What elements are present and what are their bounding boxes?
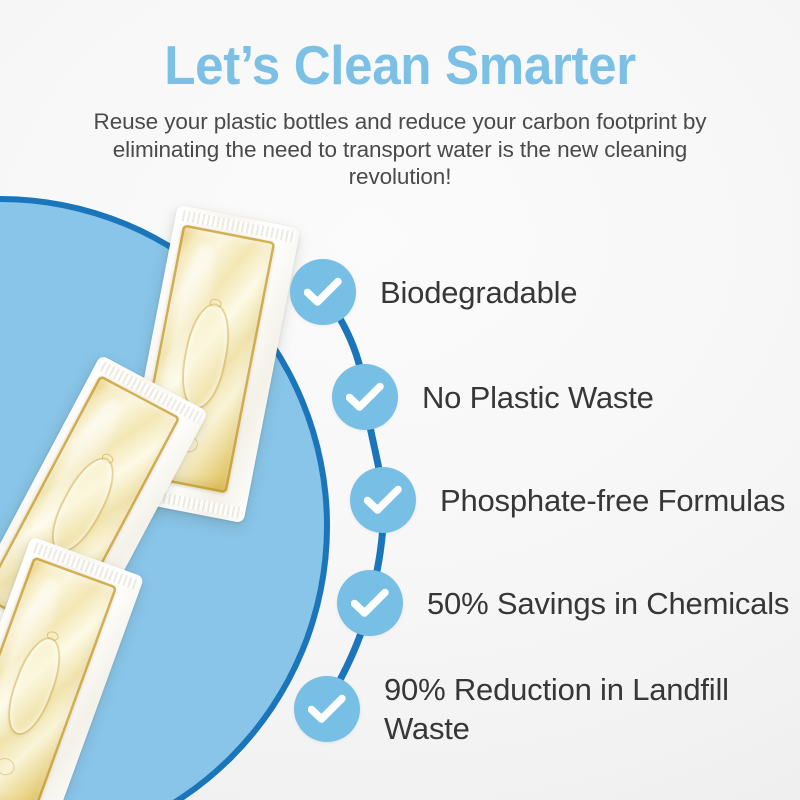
benefit-item[interactable]: No Plastic Waste bbox=[332, 364, 654, 430]
infographic-poster: Let’s Clean Smarter Reuse your plastic b… bbox=[0, 0, 800, 800]
benefit-item[interactable]: Phosphate-free Formulas bbox=[350, 467, 785, 533]
benefit-label: No Plastic Waste bbox=[422, 378, 654, 417]
benefit-item[interactable]: 90% Reduction in Landfill Waste bbox=[294, 670, 729, 748]
check-icon bbox=[290, 259, 356, 325]
benefit-label: 50% Savings in Chemicals bbox=[427, 584, 789, 623]
check-icon bbox=[350, 467, 416, 533]
benefit-item[interactable]: 50% Savings in Chemicals bbox=[337, 570, 789, 636]
benefit-item[interactable]: Biodegradable bbox=[290, 259, 577, 325]
benefit-label: Biodegradable bbox=[380, 273, 577, 312]
benefit-label: 90% Reduction in Landfill Waste bbox=[384, 670, 729, 748]
header: Let’s Clean Smarter Reuse your plastic b… bbox=[0, 0, 800, 191]
page-title: Let’s Clean Smarter bbox=[28, 0, 772, 94]
page-subtitle: Reuse your plastic bottles and reduce yo… bbox=[60, 94, 740, 191]
check-icon bbox=[337, 570, 403, 636]
benefit-label: Phosphate-free Formulas bbox=[440, 481, 785, 520]
check-icon bbox=[294, 676, 360, 742]
check-icon bbox=[332, 364, 398, 430]
